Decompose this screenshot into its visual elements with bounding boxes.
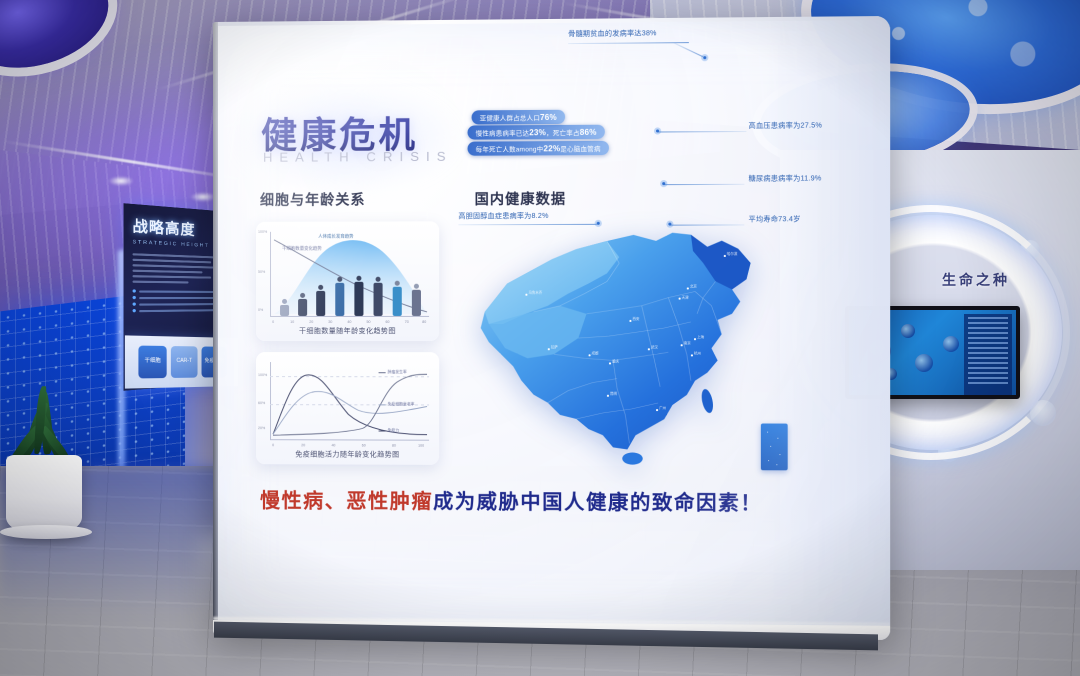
chip-item[interactable]: 干细胞 [138,346,166,379]
chart-card-stemcell: 100% 50% 0% 0 10 20 30 40 50 60 70 80 [256,221,439,341]
curve-label-stemcell: 干细胞数量变化趋势 [282,246,322,252]
x-tick-label: 60 [362,443,366,447]
leader-dot [662,182,665,185]
panel-title: 战略高度 [133,215,224,242]
x-tick-label: 20 [309,320,313,324]
chart-card-immune: 100% 60% 20% 0 20 40 60 80 100 肿瘤发生率 [256,352,439,465]
chart-plot-area-immune: 100% 60% 20% 0 20 40 60 80 100 肿瘤发生率 [270,362,429,441]
page-subtitle: HEALTH CRISIS [263,149,453,165]
leader-line [664,184,744,185]
x-tick-label: 10 [290,320,294,324]
wall-graphic-content: 健康危机 HEALTH CRISIS 细胞与年龄关系 国内健康数据 100% 5… [213,16,890,640]
y-tick-label: 100% [258,373,267,377]
leader-line [670,224,744,225]
stemcell-curves [270,231,429,316]
leader-line [658,131,746,133]
y-tick-label: 0% [258,308,263,312]
x-tick-label: 20 [301,443,305,447]
panel-body-text [133,253,224,284]
annotation-lifespan: 平均寿命73.4岁 [748,214,800,224]
chart-plot-area-stemcell: 100% 50% 0% 0 10 20 30 40 50 60 70 80 [270,231,429,317]
x-tick-label: 100 [418,444,424,448]
annotation-hypertension: 高血压患病率为27.5% [748,120,822,131]
curve-label-growth: 人体成长发育趋势 [318,234,353,240]
leader-dot [703,56,706,59]
legend-item-tumor: 肿瘤发生率 [379,370,407,375]
x-tick-label: 30 [328,320,332,324]
leader-dot [668,223,671,226]
china-map: 北京 天津 上海 武汉 成都 广州 西安 重庆 哈尔滨 [454,200,791,485]
y-tick-label: 50% [258,270,265,274]
x-tick-label: 70 [405,320,409,324]
x-tick-label: 40 [347,320,351,324]
stat-badge-cardio: 每年死亡人数among中22%是心脑血管病 [468,141,609,156]
annotation-anemia: 骨髓期贫血的发病率达38% [568,28,657,39]
bottom-headline: 慢性病、恶性肿瘤成为威胁中国人健康的致命因素！ [260,484,762,516]
screen-side-panel [964,314,1012,399]
x-tick-label: 0 [272,443,274,447]
y-tick-label: 20% [258,426,265,430]
x-tick-label: 80 [392,444,396,448]
leader-line-kink [673,42,703,57]
leader-dot [656,129,659,132]
chip-item[interactable]: CAR-T [171,346,198,378]
section-heading-cells-age: 细胞与年龄关系 [260,189,365,209]
headline-blue-part: 成为威胁中国人健康的致命因素！ [433,491,762,515]
x-axis [270,439,429,441]
x-tick-label: 80 [422,320,426,324]
x-axis [270,316,429,317]
main-display-wall: 健康危机 HEALTH CRISIS 细胞与年龄关系 国内健康数据 100% 5… [213,16,890,640]
leader-dot [597,222,600,225]
stat-badge-chronic: 慢性病患病率已达23%，死亡率占86% [468,125,605,140]
annotation-cholesterol: 高胆固醇血症患病率为8.2% [458,211,548,221]
right-exhibit-title: 生命之种 [942,270,1010,290]
x-tick-label: 0 [272,320,274,324]
south-china-sea-inset [761,423,788,470]
plant-pot [6,455,82,533]
y-tick-label: 60% [258,401,265,405]
x-tick-label: 40 [331,443,335,447]
annotation-diabetes: 糖尿病患病率为11.9% [748,173,821,183]
stat-badge-subhealth: 亚健康人群占总人口76% [472,110,565,125]
ceiling-downlight [108,176,134,186]
legend-item-aging: 免疫细胞衰老率 [379,402,415,407]
plant-pot-base [0,525,92,539]
x-tick-label: 50 [366,320,370,324]
x-tick-label: 60 [386,320,390,324]
y-tick-label: 100% [258,230,267,234]
headline-red-part: 慢性病、恶性肿瘤 [260,490,433,513]
exhibition-hall-photo: 战略高度 STRATEGIC HEIGHT 干细胞 CAR-T 免疫细胞 [0,0,1080,676]
leader-line [568,42,689,44]
legend-item-immunity: 免疫力 [379,428,400,433]
panel-bullets [133,289,224,312]
chart-caption-immune: 免疫细胞活力随年龄变化趋势图 [256,449,439,460]
china-map-shape [454,200,791,485]
chart-caption-stemcell: 干细胞数量随年龄变化趋势图 [256,326,439,336]
